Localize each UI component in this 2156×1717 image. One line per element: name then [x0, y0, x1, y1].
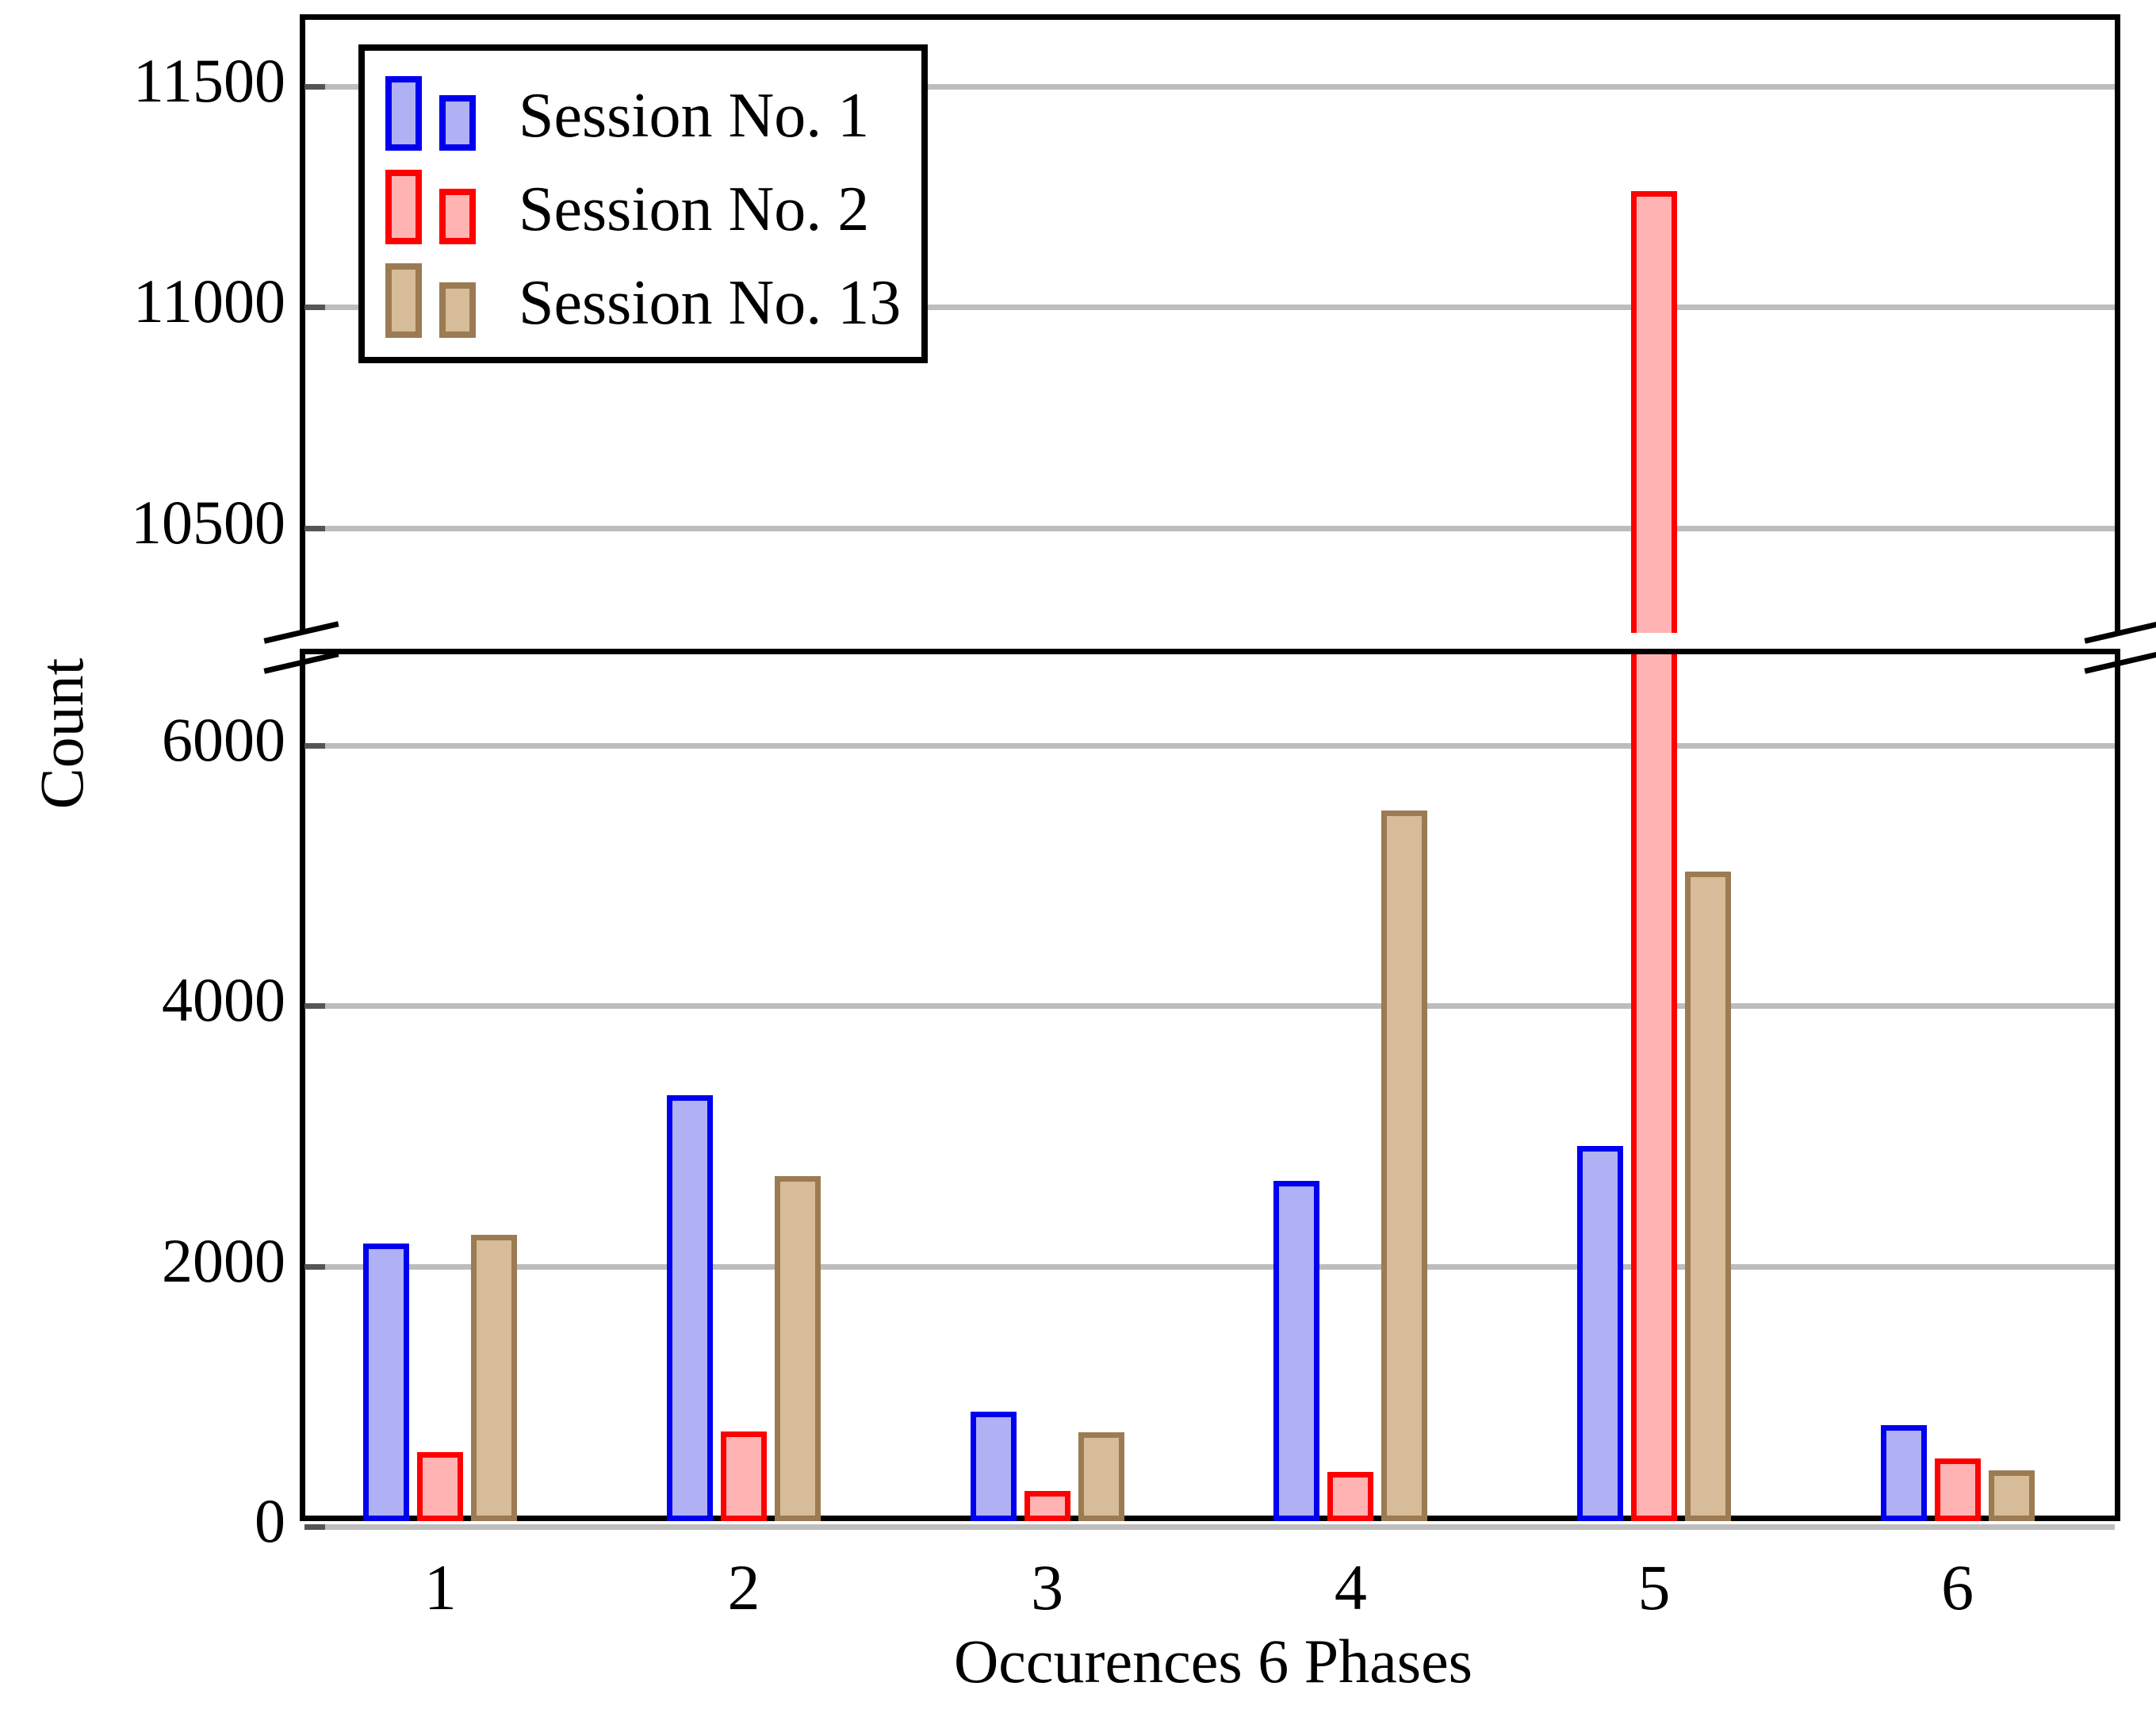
- bar[interactable]: [721, 1431, 767, 1521]
- y-tick-label: 11000: [10, 266, 285, 337]
- y-tick-label: 2000: [10, 1225, 285, 1297]
- bar[interactable]: [1881, 1425, 1927, 1521]
- bar[interactable]: [1989, 1470, 2035, 1521]
- legend-item-label: Session No. 1: [519, 76, 869, 155]
- y-tick-label: 11500: [10, 45, 285, 117]
- y-tick-mark: [304, 526, 325, 531]
- legend-swatch-icon: [385, 71, 506, 155]
- x-tick-label: 2: [664, 1550, 823, 1625]
- gridline: [305, 1524, 2115, 1530]
- y-tick-label: 10500: [10, 487, 285, 558]
- bar[interactable]: [1024, 1491, 1070, 1521]
- bar[interactable]: [667, 1095, 713, 1521]
- x-axis-title: Occurences 6 Phases: [301, 1626, 2125, 1697]
- bar[interactable]: [1381, 811, 1427, 1521]
- y-tick-label: 6000: [10, 704, 285, 776]
- bar[interactable]: [971, 1412, 1017, 1521]
- gridline: [305, 1003, 2115, 1009]
- y-tick-mark: [304, 1003, 325, 1009]
- axis-break-icon-right: [2082, 622, 2156, 677]
- x-tick-label: 6: [1878, 1550, 2037, 1625]
- legend-swatch-icon: [385, 165, 506, 249]
- plot-panel-lower: [300, 649, 2120, 1521]
- y-axis-tick-labels: 0200040006000105001100011500: [0, 0, 285, 1717]
- bar[interactable]: [363, 1244, 409, 1521]
- gridline: [305, 743, 2115, 749]
- legend-item-label: Session No. 2: [519, 170, 869, 249]
- x-tick-label: 1: [361, 1550, 519, 1625]
- bar[interactable]: [417, 1452, 463, 1521]
- gridline: [305, 526, 2115, 531]
- bar[interactable]: [1273, 1181, 1319, 1521]
- bar-lower-segment[interactable]: [1631, 654, 1677, 1521]
- x-tick-label: 5: [1575, 1550, 1733, 1625]
- bar[interactable]: [1327, 1472, 1373, 1521]
- y-tick-mark: [304, 1524, 325, 1530]
- bar[interactable]: [1078, 1432, 1124, 1521]
- legend-item-label: Session No. 13: [519, 263, 901, 343]
- y-tick-label: 0: [10, 1485, 285, 1557]
- axis-break-icon-left: [262, 622, 341, 677]
- legend-item[interactable]: Session No. 2: [385, 155, 901, 249]
- y-tick-mark: [304, 1264, 325, 1270]
- legend-swatch-icon: [385, 259, 506, 343]
- x-tick-label: 4: [1271, 1550, 1430, 1625]
- x-tick-label: 3: [968, 1550, 1127, 1625]
- y-tick-label: 4000: [10, 964, 285, 1036]
- bar-upper-segment[interactable]: [1631, 191, 1677, 633]
- axis-break-gap: [252, 633, 2156, 649]
- chart-figure: Count 0200040006000105001100011500 12345…: [0, 0, 2156, 1717]
- gridline: [305, 1264, 2115, 1270]
- y-tick-mark: [304, 305, 325, 310]
- y-tick-mark: [304, 84, 325, 90]
- chart-legend: Session No. 1 Session No. 2 Session No. …: [358, 44, 928, 363]
- legend-item[interactable]: Session No. 1: [385, 62, 901, 155]
- bar[interactable]: [1685, 872, 1731, 1521]
- bar[interactable]: [1935, 1458, 1981, 1521]
- y-tick-mark: [304, 743, 325, 749]
- legend-item[interactable]: Session No. 13: [385, 249, 901, 343]
- bar[interactable]: [471, 1235, 517, 1521]
- bar[interactable]: [775, 1176, 821, 1521]
- bar[interactable]: [1577, 1146, 1623, 1521]
